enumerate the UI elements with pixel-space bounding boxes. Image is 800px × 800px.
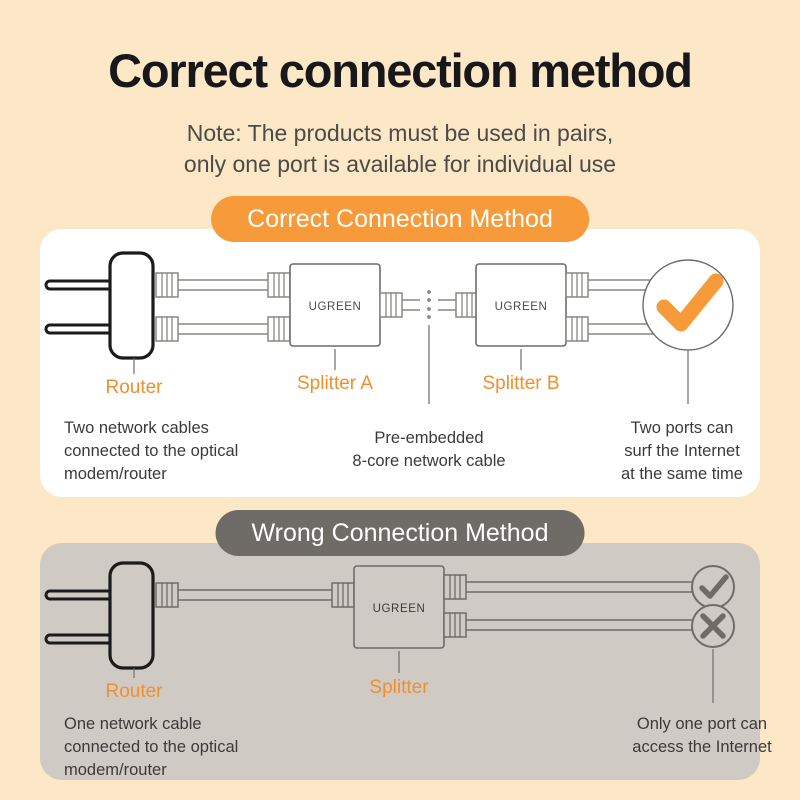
check-circle-icon [643, 260, 733, 350]
label-splitter-wrong: Splitter [369, 677, 428, 699]
caption-router-wrong: One network cable connected to the optic… [64, 713, 238, 782]
cable-router-to-splitterA-bottom [156, 317, 290, 341]
page-title: Correct connection method [0, 46, 800, 95]
note-block: Note: The products must be used in pairs… [0, 118, 800, 180]
cable-splitter-out-bottom-wrong [444, 613, 712, 637]
cable-router-to-splitter-single [156, 583, 354, 607]
label-router-correct: Router [105, 377, 162, 399]
connector-splitterB-in [438, 293, 478, 317]
splitter-a-icon: UGREEN [290, 264, 380, 346]
cable-break-dots [427, 290, 431, 319]
cross-circle-icon-wrong [692, 605, 734, 647]
badge-wrong-connection-method: Wrong Connection Method [216, 510, 585, 556]
badge-correct-connection-method: Correct Connection Method [211, 196, 589, 242]
router-icon-wrong [46, 563, 153, 668]
splitter-b-brand: UGREEN [495, 301, 548, 313]
check-circle-icon-wrong [692, 566, 734, 608]
cable-splitter-out-top-wrong [444, 575, 712, 599]
connector-splitterA-out [380, 293, 420, 317]
note-line-2: only one port is available for individua… [0, 149, 800, 180]
wrong-connection-panel: UGREEN [40, 543, 760, 780]
label-splitter-a: Splitter A [297, 373, 373, 395]
splitter-icon-wrong: UGREEN [354, 566, 444, 648]
caption-result-correct: Two ports can surf the Internet at the s… [621, 417, 743, 486]
correct-connection-panel: UGREEN [40, 229, 760, 497]
splitter-wrong-brand: UGREEN [373, 603, 426, 615]
splitter-b-icon: UGREEN [476, 264, 566, 346]
caption-result-wrong: Only one port can access the Internet [632, 713, 771, 759]
caption-router-correct: Two network cables connected to the opti… [64, 417, 238, 486]
page-root: Correct connection method Note: The prod… [0, 0, 800, 800]
note-line-1: Note: The products must be used in pairs… [0, 118, 800, 149]
cable-router-to-splitterA-top [156, 273, 290, 297]
label-splitter-b: Splitter B [482, 373, 559, 395]
label-router-wrong: Router [105, 681, 162, 703]
caption-cable: Pre-embedded 8-core network cable [352, 427, 505, 473]
router-icon-correct [46, 253, 153, 358]
splitter-a-brand: UGREEN [309, 301, 362, 313]
